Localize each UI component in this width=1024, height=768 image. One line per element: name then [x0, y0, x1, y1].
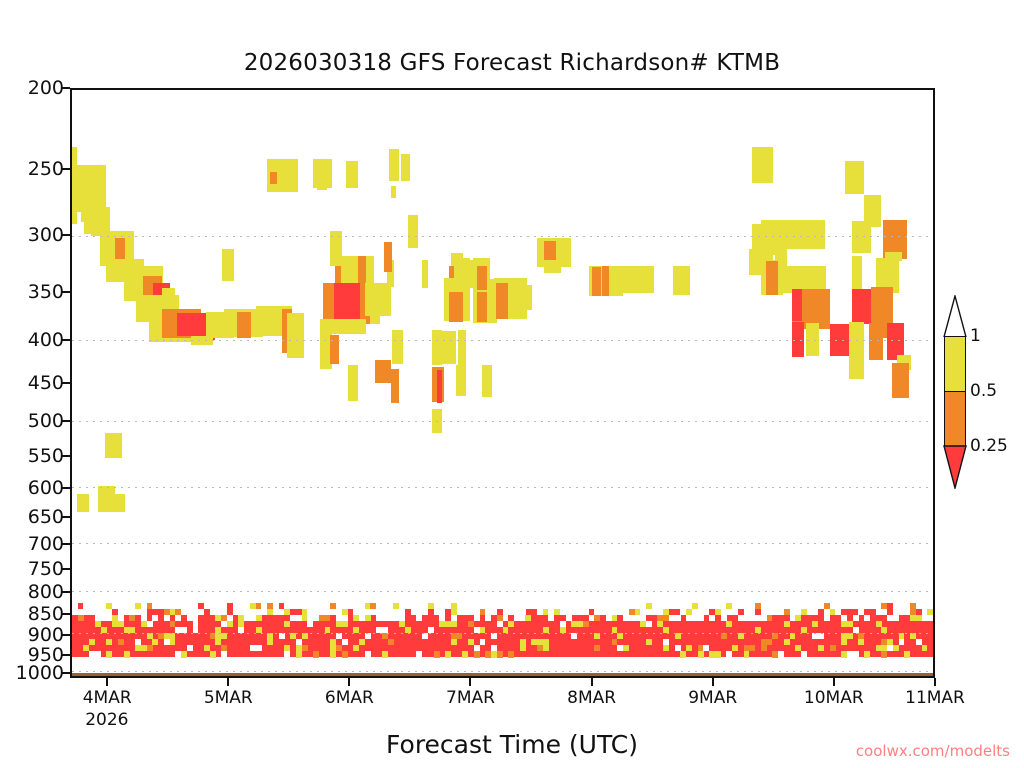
colorbar-segment	[945, 391, 965, 446]
y-axis-tick-label: 850	[28, 603, 64, 625]
chart-figure: 2026030318 GFS Forecast Richardson# KTMB…	[0, 0, 1024, 768]
y-axis-tick-label: 450	[28, 372, 64, 394]
y-axis-tick-mark	[61, 168, 70, 170]
y-axis-tick-mark	[61, 234, 70, 236]
colorbar: 10.50.25	[944, 296, 966, 446]
x-axis-tick-mark	[469, 678, 471, 686]
y-axis-tick-mark	[61, 382, 70, 384]
colorbar-tick-label: 0.25	[970, 436, 1008, 456]
y-axis-tick-mark	[61, 591, 70, 593]
x-axis-tick-mark	[712, 678, 714, 686]
terrain-band	[72, 673, 933, 676]
y-axis-tick-label: 550	[28, 445, 64, 467]
y-axis-tick-mark	[61, 291, 70, 293]
y-axis-tick-label: 600	[28, 477, 64, 499]
y-axis-tick-mark	[61, 543, 70, 545]
y-axis-tick-label: 300	[28, 224, 64, 246]
y-axis-tick-label: 650	[28, 506, 64, 528]
x-axis-tick-mark	[934, 678, 936, 686]
y-axis-tick-mark	[61, 613, 70, 615]
x-axis-tick-mark	[591, 678, 593, 686]
y-axis-tick-label: 250	[28, 158, 64, 180]
colorbar-tick-label: 0.5	[970, 381, 997, 401]
y-axis-tick-label: 800	[28, 581, 64, 603]
x-axis-tick-mark	[227, 678, 229, 686]
y-axis-tick-mark	[61, 634, 70, 636]
x-axis-tick-label: 10MAR	[804, 688, 864, 708]
y-axis-tick-mark	[61, 420, 70, 422]
y-axis-tick-label: 400	[28, 329, 64, 351]
x-axis-tick-label: 11MAR	[905, 688, 965, 708]
y-axis-tick-mark	[61, 487, 70, 489]
y-axis-tick-mark	[61, 568, 70, 570]
watermark: coolwx.com/modelts	[856, 742, 1010, 760]
x-axis-tick-label: 8MAR	[567, 688, 616, 708]
y-axis-tick-label: 350	[28, 281, 64, 303]
chart-title: 2026030318 GFS Forecast Richardson# KTMB	[0, 50, 1024, 76]
colorbar-segment	[945, 337, 965, 391]
x-axis-tick-mark	[106, 678, 108, 686]
x-axis-year-label: 2026	[85, 710, 128, 730]
x-axis-tick-mark	[833, 678, 835, 686]
colorbar-top-arrow-icon	[943, 295, 967, 337]
x-axis-tick-label: 9MAR	[688, 688, 737, 708]
terrain-layer	[72, 90, 933, 676]
colorbar-bottom-arrow-icon	[943, 445, 967, 489]
x-axis-tick-label: 7MAR	[446, 688, 495, 708]
y-axis-tick-mark	[61, 87, 70, 89]
y-axis-tick-mark	[61, 455, 70, 457]
y-axis-tick-label: 750	[28, 558, 64, 580]
colorbar-body	[944, 336, 966, 446]
x-axis-tick-label: 6MAR	[325, 688, 374, 708]
y-axis-tick-label: 500	[28, 410, 64, 432]
colorbar-tick-label: 1	[970, 326, 981, 346]
y-axis-tick-label: 1000	[16, 662, 64, 684]
y-axis-tick-label: 200	[28, 77, 64, 99]
y-axis-tick-mark	[61, 654, 70, 656]
x-axis-tick-label: 4MAR	[83, 688, 132, 708]
x-axis-tick-label: 5MAR	[204, 688, 253, 708]
y-axis-tick-label: 700	[28, 533, 64, 555]
y-axis-tick-mark	[61, 339, 70, 341]
plot-area	[70, 88, 935, 678]
y-axis-tick-mark	[61, 672, 70, 674]
x-axis-tick-mark	[348, 678, 350, 686]
y-axis-tick-mark	[61, 516, 70, 518]
